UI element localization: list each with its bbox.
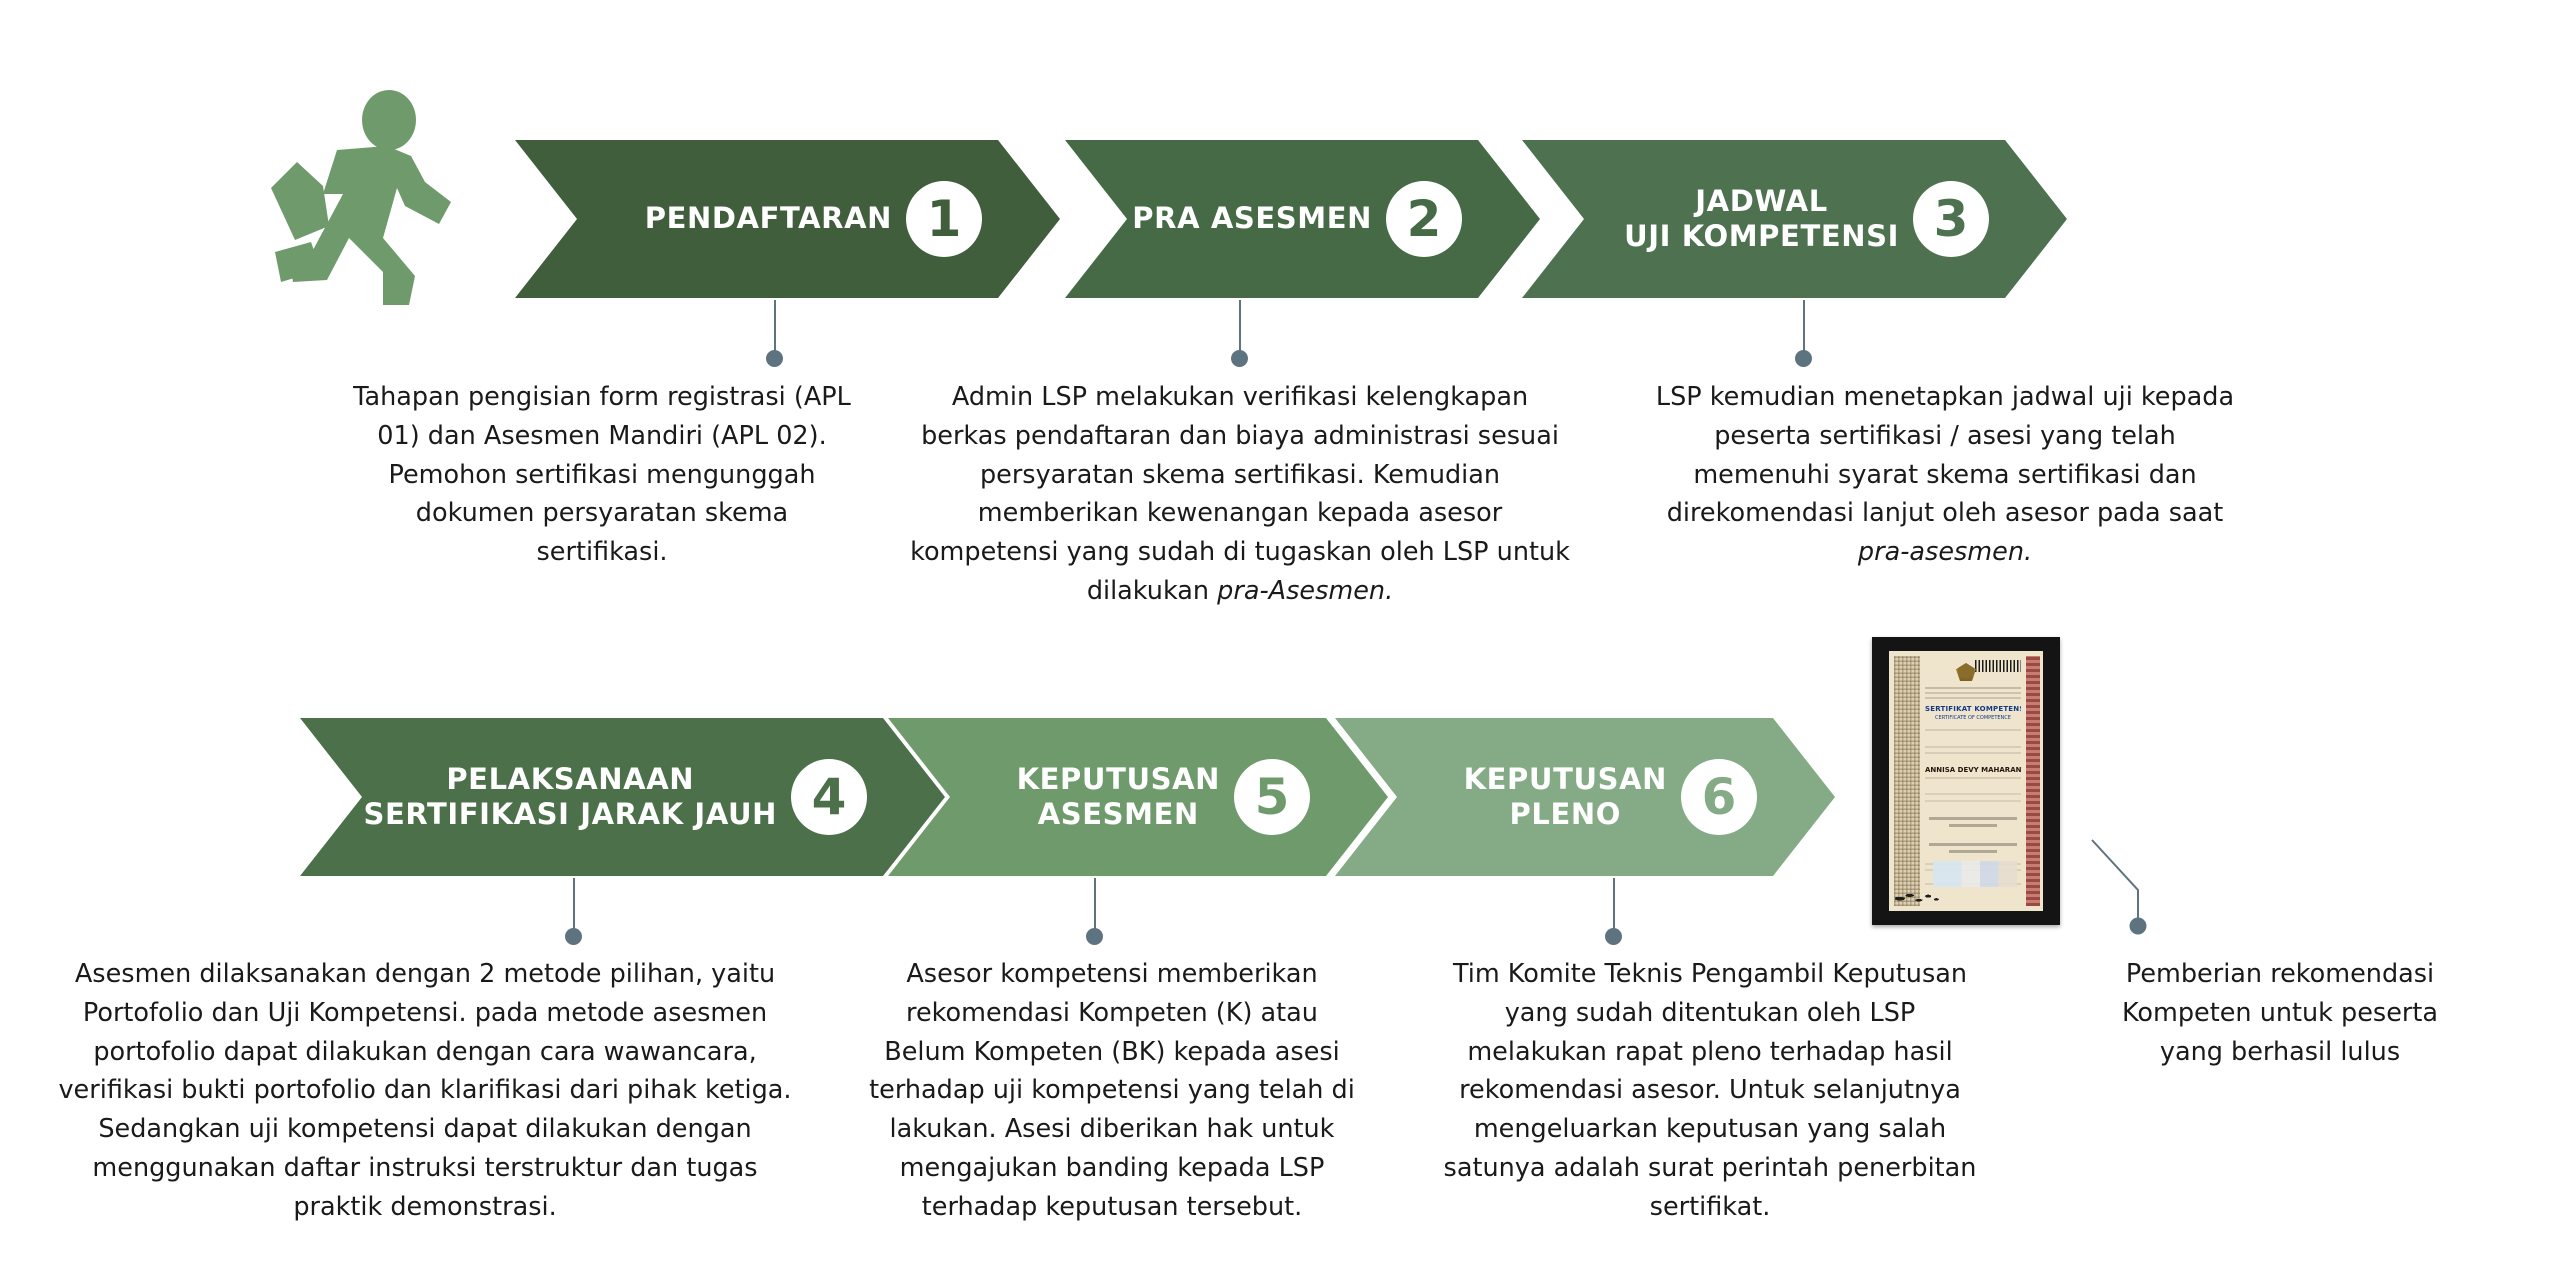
connector-dot-1 — [766, 350, 783, 367]
certificate-guilloche-right — [2026, 656, 2040, 906]
connector-dot-2 — [1231, 350, 1248, 367]
certificate-guilloche-left — [1894, 656, 1920, 906]
connector-elbow-outcome — [2090, 838, 2230, 948]
step-title-3: JADWAL UJI KOMPETENSI — [1624, 184, 1899, 255]
step-number-2: 2 — [1386, 181, 1462, 257]
step-number-1: 1 — [906, 181, 982, 257]
step-number-4: 4 — [791, 759, 867, 835]
step-number-5: 5 — [1234, 759, 1310, 835]
connector-dot-3 — [1795, 350, 1812, 367]
step-description-1: Tahapan pengisian form registrasi (APL 0… — [352, 378, 852, 572]
certificate-title: SERTIFIKAT KOMPETENSI — [1925, 705, 2021, 713]
connector-stem-4 — [573, 878, 575, 932]
certificate-barcode — [1975, 660, 2021, 672]
outcome-caption: Pemberian rekomendasi Kompeten untuk pes… — [2090, 955, 2470, 1071]
running-person-icon — [265, 90, 470, 305]
connector-stem-2 — [1239, 300, 1241, 354]
certificate-holder-name: ANNISA DEVY MAHARANI — [1925, 766, 2021, 774]
step-description-6: Tim Komite Teknis Pengambil Keputusan ya… — [1440, 955, 1980, 1226]
step-description-2: Admin LSP melakukan verifikasi kelengkap… — [910, 378, 1570, 611]
garuda-crest-icon — [1956, 663, 1976, 681]
step-description-4: Asesmen dilaksanakan dengan 2 metode pil… — [45, 955, 805, 1226]
step-number-3: 3 — [1913, 181, 1989, 257]
step-title-4: PELAKSANAAN SERTIFIKASI JARAK JAUH — [363, 762, 777, 833]
certificate-document: SERTIFIKAT KOMPETENSI CERTIFICATE OF COM… — [1889, 651, 2043, 911]
step-title-5: KEPUTUSAN ASESMEN — [1017, 762, 1220, 833]
step-title-6: KEPUTUSAN PLENO — [1464, 762, 1667, 833]
connector-dot-5 — [1086, 928, 1103, 945]
step-description-3: LSP kemudian menetapkan jadwal uji kepad… — [1655, 378, 2235, 572]
step-title-1: PENDAFTARAN — [645, 201, 892, 236]
step-chevron-3[interactable]: JADWAL UJI KOMPETENSI 3 — [1522, 140, 2067, 298]
step-chevron-2[interactable]: PRA ASESMEN 2 — [1065, 140, 1540, 298]
step-chevron-5[interactable]: KEPUTUSAN ASESMEN 5 — [888, 718, 1388, 876]
connector-stem-6 — [1613, 878, 1615, 932]
connector-stem-3 — [1803, 300, 1805, 354]
step-description-5: Asesor kompetensi memberikan rekomendasi… — [862, 955, 1362, 1226]
connector-dot-6 — [1605, 928, 1622, 945]
step-chevron-6[interactable]: KEPUTUSAN PLENO 6 — [1335, 718, 1835, 876]
certificate-frame: SERTIFIKAT KOMPETENSI CERTIFICATE OF COM… — [1872, 637, 2060, 925]
certificate-subtitle: CERTIFICATE OF COMPETENCE — [1925, 715, 2021, 721]
indonesia-map-watermark — [1895, 889, 1941, 905]
step-chevron-4[interactable]: PELAKSANAAN SERTIFIKASI JARAK JAUH 4 — [300, 718, 945, 876]
step-number-6: 6 — [1681, 759, 1757, 835]
connector-stem-5 — [1094, 878, 1096, 932]
certificate-logos-strip — [1933, 861, 2017, 887]
step-title-2: PRA ASESMEN — [1132, 201, 1372, 236]
connector-dot-4 — [565, 928, 582, 945]
infographic-canvas: PENDAFTARAN 1 PRA ASESMEN 2 JADWAL UJI K… — [0, 0, 2560, 1284]
step-chevron-1[interactable]: PENDAFTARAN 1 — [515, 140, 1060, 298]
connector-stem-1 — [774, 300, 776, 354]
